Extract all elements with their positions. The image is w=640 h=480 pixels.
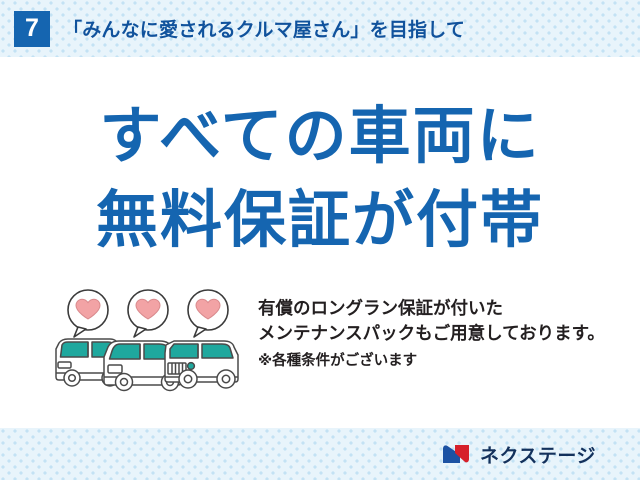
nexstage-n-icon — [441, 442, 473, 466]
heart-bubble-3 — [188, 290, 228, 337]
body-copy: 有償のロングラン保証が付いた メンテナンスパックもご用意しております。 ※各種条… — [258, 297, 633, 373]
car-suv — [165, 341, 238, 388]
headline-line-2: 無料保証が付帯 — [0, 189, 640, 251]
body-line-3-note: ※各種条件がございます — [258, 349, 633, 373]
footer: ネクステージ — [0, 428, 640, 480]
cars-illustration — [48, 285, 248, 405]
headline-line-1: すべての車両に — [0, 105, 640, 167]
header-title: 「みんなに愛されるクルマ屋さん」を目指して — [63, 15, 465, 42]
lower-row: 有償のロングラン保証が付いた メンテナンスパックもご用意しております。 ※各種条… — [0, 285, 640, 405]
brand-logo: ネクステージ — [441, 441, 596, 468]
body-line-2: メンテナンスパックもご用意しております。 — [258, 322, 633, 347]
section-number-badge: 7 — [14, 11, 50, 47]
main-content: すべての車両に 無料保証が付帯 — [0, 57, 640, 428]
heart-bubble-1 — [68, 290, 108, 337]
promo-banner: 7 「みんなに愛されるクルマ屋さん」を目指して すべての車両に 無料保証が付帯 — [0, 0, 640, 480]
body-line-1: 有償のロングラン保証が付いた — [258, 297, 633, 322]
cars-svg — [48, 285, 248, 405]
heart-bubble-2 — [128, 290, 168, 337]
header: 7 「みんなに愛されるクルマ屋さん」を目指して — [0, 0, 640, 57]
brand-name: ネクステージ — [480, 441, 596, 468]
